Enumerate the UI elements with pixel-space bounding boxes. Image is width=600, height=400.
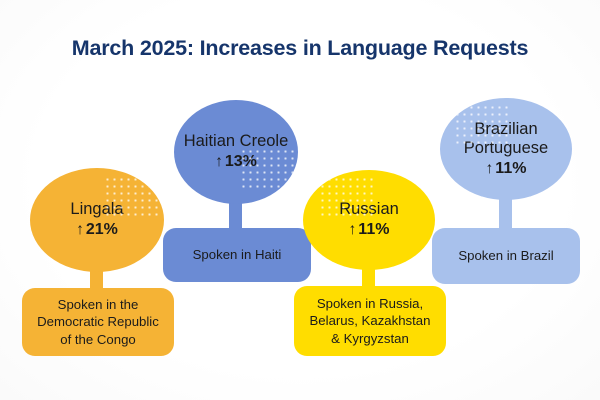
increase-stat: ↑11% bbox=[349, 221, 390, 240]
increase-percent: 21% bbox=[86, 221, 118, 238]
up-arrow-icon: ↑ bbox=[76, 221, 84, 238]
infographic-canvas: March 2025: Increases in Language Reques… bbox=[0, 0, 600, 400]
language-caption-lingala: Spoken in the Democratic Republic of the… bbox=[22, 288, 174, 356]
language-bubble-haitian-creole[interactable]: Haitian Creole ↑13% bbox=[174, 100, 298, 204]
language-caption-haitian-creole: Spoken in Haiti bbox=[163, 228, 311, 282]
language-bubble-brazilian-portuguese[interactable]: Brazilian Portuguese ↑11% bbox=[440, 98, 572, 200]
increase-stat: ↑11% bbox=[486, 160, 527, 179]
up-arrow-icon: ↑ bbox=[349, 221, 357, 238]
up-arrow-icon: ↑ bbox=[215, 153, 223, 170]
language-name: Haitian Creole bbox=[176, 132, 297, 151]
increase-stat: ↑21% bbox=[76, 221, 118, 240]
language-caption-brazilian-portuguese: Spoken in Brazil bbox=[432, 228, 580, 284]
increase-stat: ↑13% bbox=[215, 153, 257, 172]
language-bubble-russian[interactable]: Russian ↑11% bbox=[303, 170, 435, 270]
page-title: March 2025: Increases in Language Reques… bbox=[0, 36, 600, 61]
up-arrow-icon: ↑ bbox=[486, 160, 494, 177]
language-name: Lingala bbox=[62, 200, 131, 219]
language-name: Brazilian Portuguese bbox=[440, 120, 572, 158]
language-name: Russian bbox=[331, 200, 407, 219]
increase-percent: 11% bbox=[358, 221, 389, 238]
language-bubble-lingala[interactable]: Lingala ↑21% bbox=[30, 168, 164, 272]
increase-percent: 11% bbox=[495, 160, 526, 177]
language-caption-russian: Spoken in Russia, Belarus, Kazakhstan & … bbox=[294, 286, 446, 356]
increase-percent: 13% bbox=[225, 153, 257, 170]
